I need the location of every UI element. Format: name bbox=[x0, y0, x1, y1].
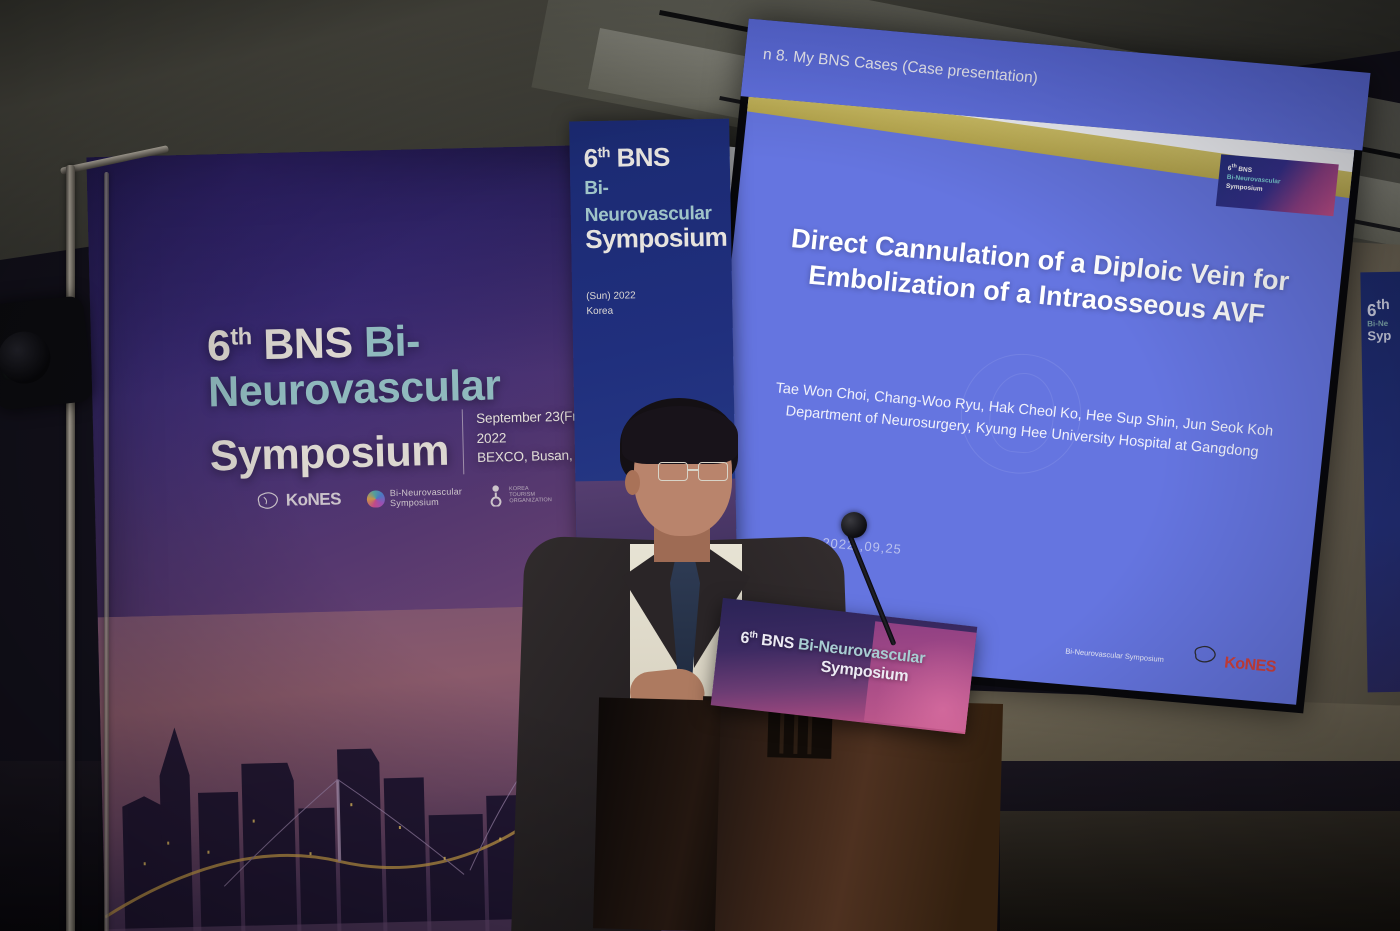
presenter-ear bbox=[625, 470, 640, 495]
truss-pole-left bbox=[66, 165, 75, 931]
brain-outline-icon bbox=[255, 490, 282, 513]
kones-logo: KoNES bbox=[255, 488, 342, 512]
vb-sub-1: (Sun) 2022 bbox=[586, 290, 636, 302]
presenter-hair bbox=[622, 406, 738, 464]
eyeglasses-icon bbox=[658, 462, 732, 482]
brain-icon bbox=[367, 490, 385, 507]
bns-brain-caption: Bi-Neurovascular Symposium bbox=[1065, 647, 1164, 665]
slide-title: Direct Cannulation of a Diploic Vein for… bbox=[765, 219, 1312, 335]
kto-figure-icon bbox=[488, 484, 505, 506]
kones-logo-text: KoNES bbox=[1223, 654, 1276, 675]
rb-symposium: Syp bbox=[1367, 329, 1400, 344]
right-banner-title: 6th Bi-Ne Syp bbox=[1360, 272, 1400, 344]
bns-logo: Bi-Neurovascular Symposium bbox=[367, 486, 463, 509]
podium-bns: BNS bbox=[756, 631, 799, 653]
kones-logo-text: KoNES bbox=[286, 489, 342, 510]
brain-outline-icon bbox=[1190, 642, 1222, 666]
corner-bns: BNS bbox=[1236, 166, 1252, 174]
bns-brain-logo: Bi-Neurovascular Symposium bbox=[1065, 641, 1165, 668]
bns-logo-line1: Bi-Neurovascular bbox=[390, 486, 462, 498]
camera-led-red bbox=[26, 371, 31, 376]
vertical-banner-subtitle: (Sun) 2022 Korea bbox=[586, 288, 636, 319]
vb-symposium: Symposium bbox=[585, 222, 727, 254]
floor-right bbox=[1000, 811, 1400, 931]
vb-ordinal: th bbox=[597, 145, 610, 161]
vb-teal: Bi-Neurovascular bbox=[584, 178, 712, 226]
backdrop-title-bns: BNS bbox=[251, 319, 364, 370]
kones-logo: KoNES bbox=[1189, 642, 1278, 676]
corner-symposium: Symposium bbox=[1226, 182, 1263, 192]
rb-ordinal: th bbox=[1376, 297, 1390, 313]
backdrop-title-symposium: Symposium bbox=[209, 429, 449, 480]
vb-sub-2: Korea bbox=[586, 306, 613, 317]
backdrop-title-num: 6 bbox=[207, 322, 232, 371]
video-camera bbox=[0, 295, 93, 410]
vb-bns: BNS bbox=[610, 142, 670, 173]
camera-led-green bbox=[8, 369, 13, 374]
slide-footer-logos: Bi-Neurovascular Symposium KoNES bbox=[1065, 632, 1278, 677]
right-edge-banner: 6th Bi-Ne Syp bbox=[1360, 272, 1400, 693]
vertical-banner-title: 6th BNS Bi-Neurovascular Symposium bbox=[584, 143, 726, 254]
gooseneck-microphone-head bbox=[841, 512, 867, 538]
vb-num: 6 bbox=[584, 143, 598, 173]
backdrop-title-ordinal: th bbox=[230, 324, 252, 351]
conference-room-photo: 6th BNS Bi-Neurovascular Symposium Septe… bbox=[0, 0, 1400, 931]
bns-logo-text: Bi-Neurovascular Symposium bbox=[390, 486, 463, 508]
truss-pole-left-inner bbox=[104, 172, 109, 931]
bns-logo-line2: Symposium bbox=[390, 497, 439, 508]
slide-corner-logo: 6th BNS Bi-Neurovascular Symposium bbox=[1216, 154, 1339, 216]
